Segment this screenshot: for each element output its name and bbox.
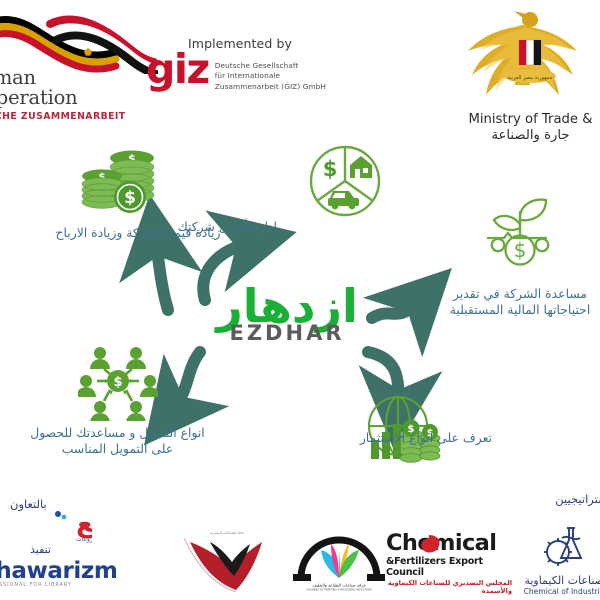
giz-subtitle: Deutsche Gesellschaft für Internationale…	[215, 61, 326, 92]
ministry-of-trade-logo: جمهورية مصر العربية Ministry of Trade & …	[443, 6, 600, 143]
arrow-to-company-value	[156, 242, 168, 310]
ministry-name-ar: جارة والصناعة	[443, 128, 600, 143]
german-cooperation-logo: German Cooperation DEUTSCHE ZUSAMMENARBE…	[0, 8, 158, 128]
svg-text:$: $	[124, 188, 136, 208]
german-cooperation-wordmark: German Cooperation DEUTSCHE ZUSAMMENARBE…	[0, 68, 158, 122]
node-finance-types-label: انواع التمويل و مساعدتك للحصول على التمو…	[30, 425, 205, 458]
chemical-fertilizers-export-council-logo: Chemical &Fertilizers Export Council الم…	[386, 532, 512, 595]
khawarizm-logo: Khawarizm PROFESSIONAL FOR LIBRARY	[0, 558, 108, 588]
chemical-industries-name-en: Chemical of Industries	[506, 587, 600, 596]
flask-gear-icon	[536, 520, 596, 568]
mashrouak-logo: مشاريع تمويل ودعم المشروعات	[0, 508, 92, 546]
printing-chamber-icon: غرفة صناعات الطباعة والتغليف CHAMBER OF …	[287, 530, 392, 592]
node-future-needs-label: مساعدة الشركة في تقدير احتياجاتها المالي…	[440, 286, 600, 319]
svg-text:تمويل ودعم المشروعات: تمويل ودعم المشروعات	[76, 536, 92, 543]
svg-text:مشاريع: مشاريع	[76, 508, 92, 539]
cfec-main-word: Chemical	[386, 532, 512, 555]
ezdhar-logo: ازدهار EZDHAR	[213, 285, 361, 363]
plant-growth-coin-icon: $	[476, 198, 564, 280]
german-line-2: Cooperation	[0, 88, 158, 108]
svg-text:$: $	[113, 375, 122, 390]
node-finance-types: $ انواع التمويل و مساعدتك للحصول على الت…	[30, 345, 205, 458]
cfec-arabic: المجلس التصديري للصناعات الكيماوية والأس…	[386, 579, 512, 595]
chemical-industries-chamber-logo: لصناعات الكيماوية Chemical of Industries	[506, 520, 600, 596]
svg-text:$: $	[514, 238, 527, 262]
node-investment-types: $ $ تعرف على انواع الاستثمار	[258, 392, 448, 464]
node-asset-management-label: ادارة أصول شركتك	[127, 219, 277, 235]
cfec-red-swirl-icon	[416, 533, 442, 555]
chemical-industries-name-ar: لصناعات الكيماوية	[506, 574, 600, 587]
asset-management-icon: $	[307, 143, 383, 219]
ministry-name-en: Ministry of Trade &	[443, 112, 600, 127]
strategic-partners-label: ع الاستراتيجيين	[555, 492, 600, 506]
ezdhar-logo-latin: EZDHAR	[213, 321, 361, 345]
svg-text:CHAMBER OF PRINTING & PACKAGIN: CHAMBER OF PRINTING & PACKAGING INDUSTRI…	[306, 588, 372, 592]
german-line-1: German	[0, 68, 158, 88]
svg-text:$: $	[323, 157, 338, 181]
coin-stacks-icon: $ $	[78, 150, 198, 222]
itida-logo: اتحاد الصناعات المصرية	[180, 520, 275, 592]
svg-text:جمهورية مصر العربية: جمهورية مصر العربية	[507, 75, 553, 81]
crowdfunding-people-icon: $	[78, 345, 158, 421]
mashrouak-wordmark-icon: مشاريع تمويل ودعم المشروعات	[0, 508, 92, 546]
svg-text:غرفة صناعات الطباعة والتغليف: غرفة صناعات الطباعة والتغليف	[312, 583, 366, 588]
node-future-needs: $ مساعدة الشركة في تقدير احتياجاتها الما…	[440, 198, 600, 319]
globe-chart-coins-icon: $ $	[362, 392, 448, 464]
svg-text:اتحاد الصناعات المصرية: اتحاد الصناعات المصرية	[210, 531, 244, 535]
giz-wordmark: giz	[146, 54, 209, 86]
khawarizm-wordmark: Khawarizm	[0, 558, 108, 584]
printing-packaging-chamber-logo: غرفة صناعات الطباعة والتغليف CHAMBER OF …	[287, 530, 392, 592]
arrow-to-future-needs	[372, 302, 418, 318]
node-investment-types-label: تعرف على انواع الاستثمار	[342, 430, 492, 446]
eagle-of-saladin-icon: جمهورية مصر العربية	[443, 6, 600, 106]
infographic-canvas: German Cooperation DEUTSCHE ZUSAMMENARBE…	[0, 0, 600, 600]
giz-logo: giz Deutsche Gesellschaft für Internatio…	[146, 54, 326, 92]
german-line-3: DEUTSCHE ZUSAMMENARBEIT	[0, 111, 158, 122]
itida-chevron-icon: اتحاد الصناعات المصرية	[180, 520, 275, 592]
german-egypt-flag-ribbon-icon	[0, 8, 158, 74]
node-asset-management: $ ادارة أصول شركتك	[275, 143, 415, 219]
cfec-sub-word: &Fertilizers Export Council	[386, 556, 512, 578]
